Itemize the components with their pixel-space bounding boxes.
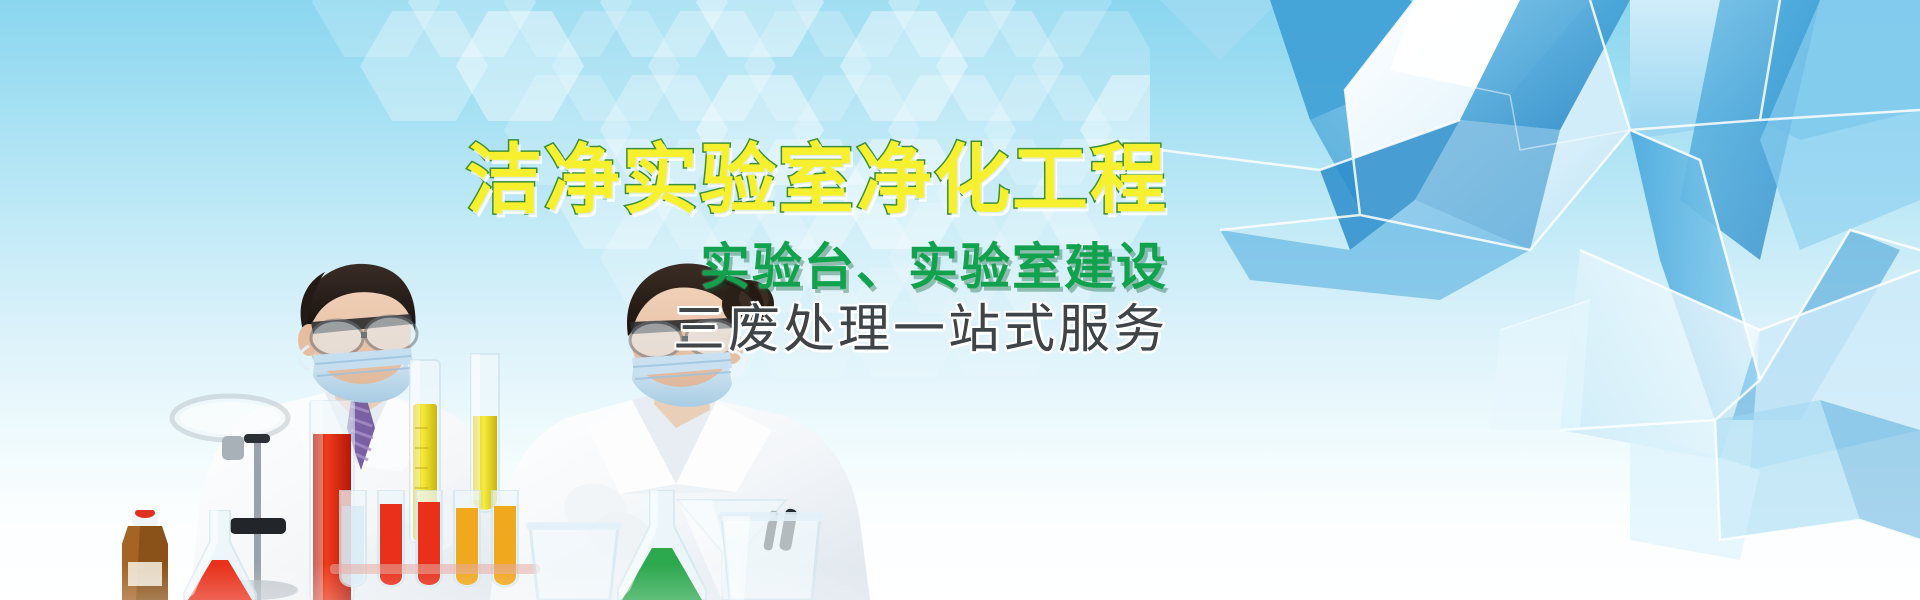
banner-root: 洁净实验室净化工程 实验台、实验室建设 三废处理一站式服务 (0, 0, 1920, 600)
photo-bottom-fade (0, 564, 960, 600)
crystal-polygon-decoration (1160, 0, 1920, 600)
lab-scene-photo (0, 260, 960, 600)
